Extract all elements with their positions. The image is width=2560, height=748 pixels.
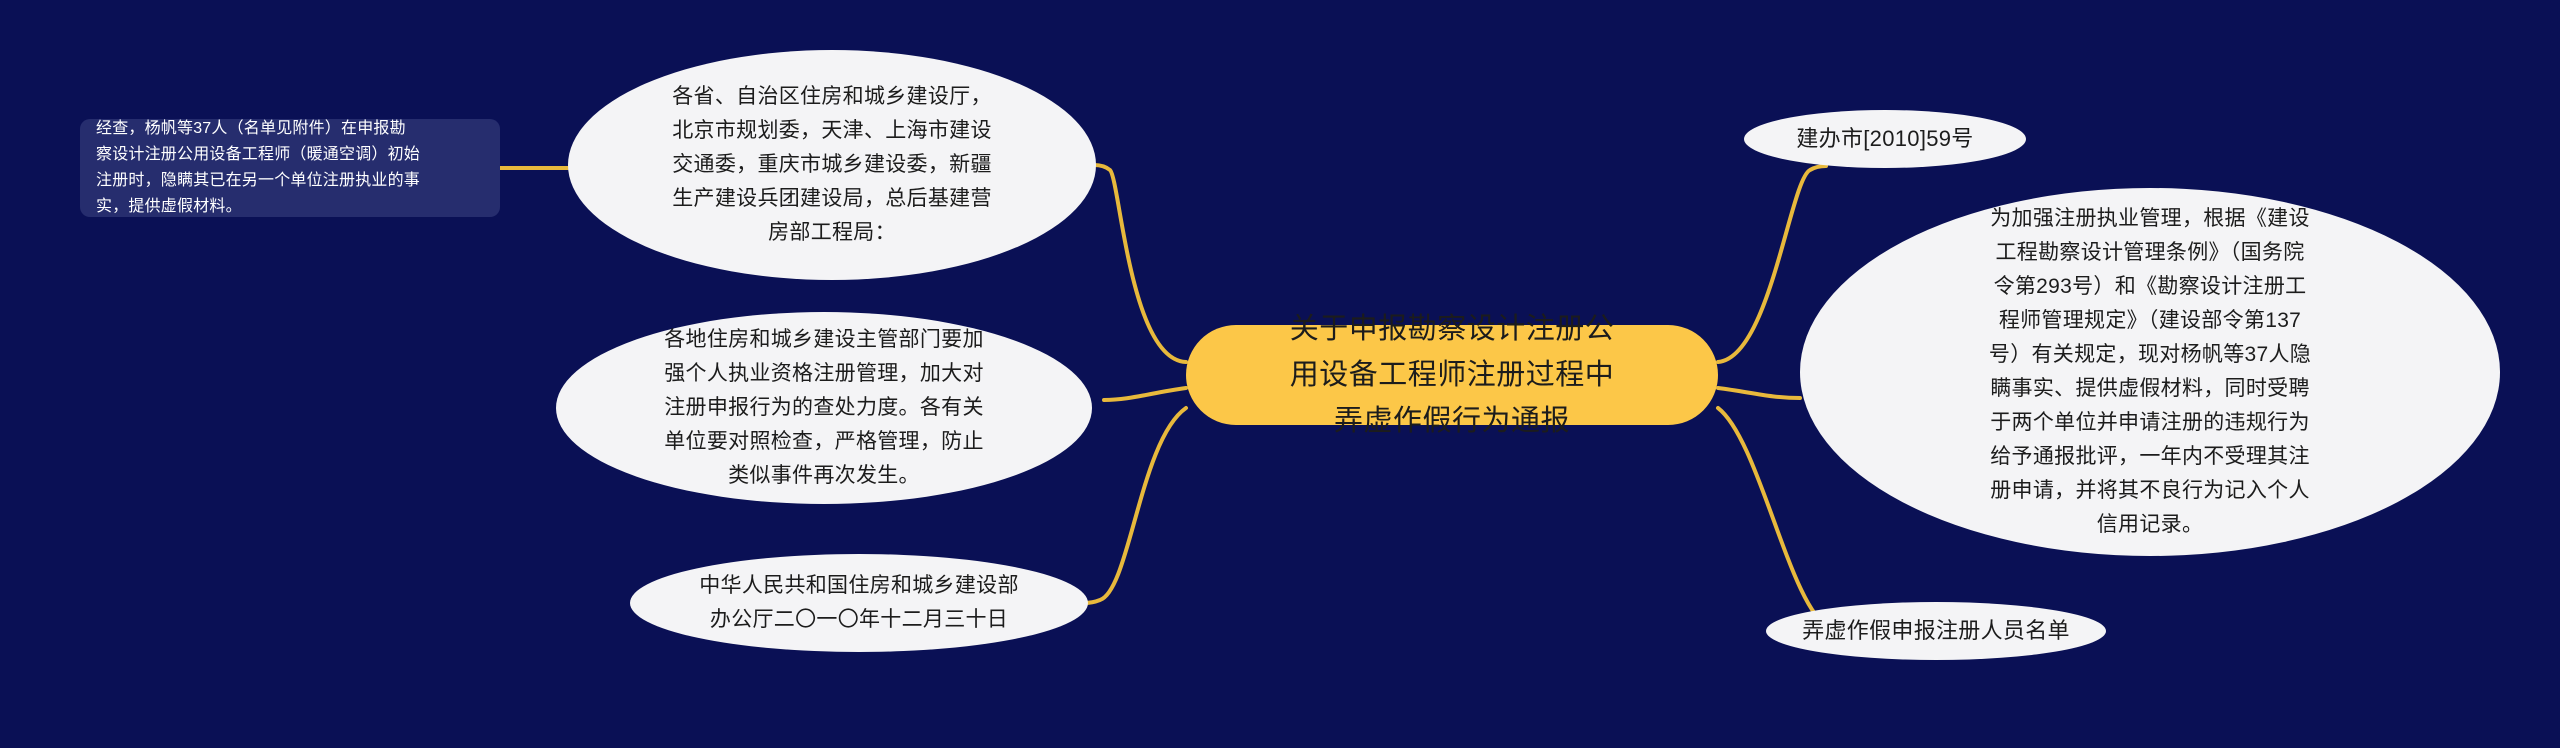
central-topic[interactable]: 关于申报勘察设计注册公 用设备工程师注册过程中 弄虚作假行为通报 [1186, 325, 1718, 425]
branch-requirements-label: 各地住房和城乡建设主管部门要加 强个人执业资格注册管理，加大对 注册申报行为的查… [586, 323, 1062, 493]
branch-document-number[interactable]: 建办市[2010]59号 [1744, 110, 2026, 168]
investigation-note[interactable]: 经查，杨帆等37人（名单见附件）在申报勘 察设计注册公用设备工程师（暖通空调）初… [80, 119, 500, 217]
branch-requirements[interactable]: 各地住房和城乡建设主管部门要加 强个人执业资格注册管理，加大对 注册申报行为的查… [556, 312, 1092, 504]
central-topic-label: 关于申报勘察设计注册公 用设备工程师注册过程中 弄虚作假行为通报 [1212, 306, 1692, 444]
branch-recipients-label: 各省、自治区住房和城乡建设厅， 北京市规划委，天津、上海市建设 交通委，重庆市城… [598, 80, 1066, 250]
branch-attachment-list-label: 弄虚作假申报注册人员名单 [1796, 615, 2076, 647]
branch-attachment-list[interactable]: 弄虚作假申报注册人员名单 [1766, 602, 2106, 660]
connector-central-issuer [1084, 408, 1186, 603]
branch-issuer-date[interactable]: 中华人民共和国住房和城乡建设部 办公厅二〇一〇年十二月三十日 [630, 554, 1088, 652]
branch-decision-body-label: 为加强注册执业管理，根据《建设 工程勘察设计管理条例》（国务院 令第293号）和… [1830, 202, 2470, 542]
connector-central-recipients [1094, 165, 1186, 362]
branch-recipients[interactable]: 各省、自治区住房和城乡建设厅， 北京市规划委，天津、上海市建设 交通委，重庆市城… [568, 50, 1096, 280]
branch-decision-body[interactable]: 为加强注册执业管理，根据《建设 工程勘察设计管理条例》（国务院 令第293号）和… [1800, 188, 2500, 556]
branch-issuer-date-label: 中华人民共和国住房和城乡建设部 办公厅二〇一〇年十二月三十日 [660, 569, 1058, 637]
connector-central-decision [1718, 388, 1800, 398]
investigation-note-label: 经查，杨帆等37人（名单见附件）在申报勘 察设计注册公用设备工程师（暖通空调）初… [96, 116, 484, 220]
connector-central-requirements [1104, 388, 1186, 400]
branch-document-number-label: 建办市[2010]59号 [1774, 123, 1996, 155]
mindmap-canvas: 关于申报勘察设计注册公 用设备工程师注册过程中 弄虚作假行为通报 各省、自治区住… [0, 0, 2560, 748]
